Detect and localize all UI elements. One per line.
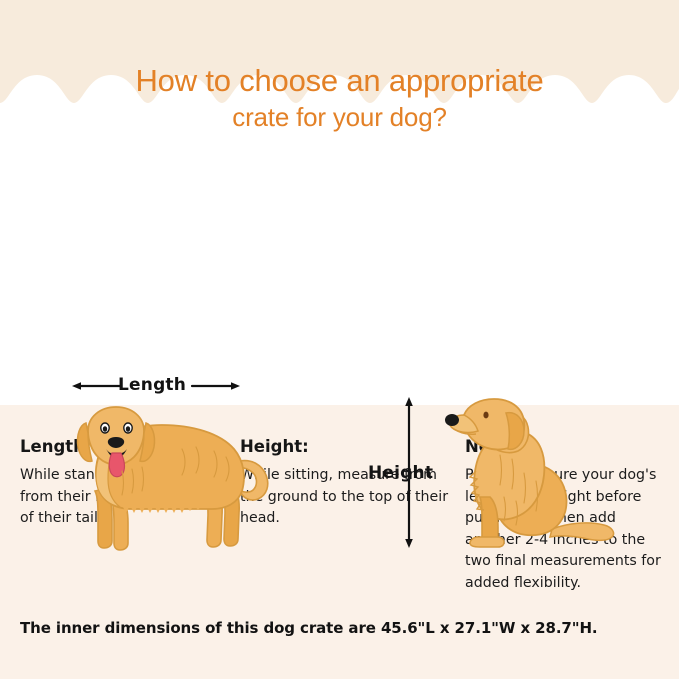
standing-dog-illustration <box>62 397 272 552</box>
sitting-dog-illustration <box>440 393 630 553</box>
height-label: Height <box>368 463 433 483</box>
infographic-page: How to choose an appropriate crate for y… <box>0 0 679 679</box>
length-label: Length <box>118 375 186 395</box>
title-line-1: How to choose an appropriate <box>0 62 679 100</box>
title-line-2: crate for your dog? <box>0 100 679 134</box>
header-banner: How to choose an appropriate crate for y… <box>0 0 679 163</box>
page-title: How to choose an appropriate crate for y… <box>0 62 679 134</box>
illustration-area: Length Height <box>0 163 679 405</box>
crate-dimensions-note: The inner dimensions of this dog crate a… <box>20 619 670 637</box>
